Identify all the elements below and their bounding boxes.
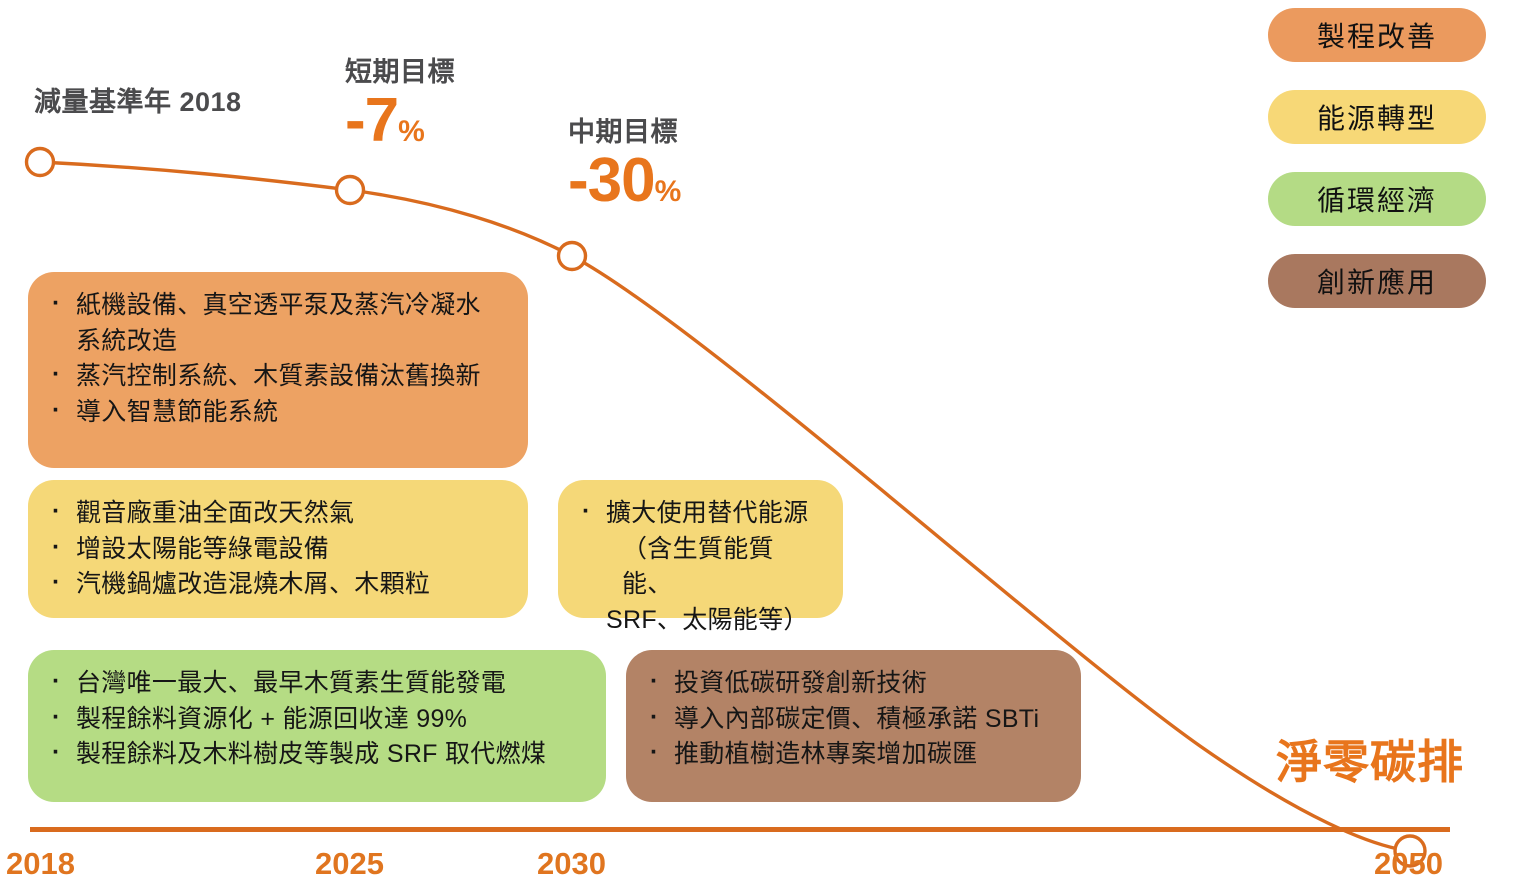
card-energy-transition-left: 觀音廠重油全面改天然氣 增設太陽能等綠電設備 汽機鍋爐改造混燒木屑、木顆粒 xyxy=(28,480,528,618)
card-process-improvement: 紙機設備、真空透平泵及蒸汽冷凝水 系統改造 蒸汽控制系統、木質素設備汰舊換新 導… xyxy=(28,272,528,468)
axis-tick-2030: 2030 xyxy=(537,846,606,882)
axis-tick-2025: 2025 xyxy=(315,846,384,882)
milestone-short-term: 短期目標 -7% xyxy=(345,58,455,152)
card-item-list: 觀音廠重油全面改天然氣 增設太陽能等綠電設備 汽機鍋爐改造混燒木屑、木顆粒 xyxy=(46,496,506,603)
timeline-axis xyxy=(30,827,1450,832)
baseline-title: 減量基準年 2018 xyxy=(34,88,242,118)
card-energy-transition-right: 擴大使用替代能源 （含生質能質能、 SRF、太陽能等） xyxy=(558,480,843,618)
list-item: 製程餘料及木料樹皮等製成 SRF 取代燃煤 xyxy=(46,737,584,773)
legend-badge-innovation-application[interactable]: 創新應用 xyxy=(1268,254,1486,308)
list-item: 製程餘料資源化 + 能源回收達 99% xyxy=(46,702,584,738)
list-item: 系統改造 xyxy=(46,324,506,360)
milestone-mid-term: 中期目標 -30% xyxy=(568,118,681,212)
list-item: 台灣唯一最大、最早木質素生質能發電 xyxy=(46,666,584,702)
card-item-list: 擴大使用替代能源 （含生質能質能、 SRF、太陽能等） xyxy=(576,496,821,638)
list-item: 投資低碳研發創新技術 xyxy=(644,666,1059,702)
mid-term-unit: % xyxy=(655,175,682,208)
card-item-list: 紙機設備、真空透平泵及蒸汽冷凝水 系統改造 蒸汽控制系統、木質素設備汰舊換新 導… xyxy=(46,288,506,430)
card-item-list: 台灣唯一最大、最早木質素生質能發電 製程餘料資源化 + 能源回收達 99% 製程… xyxy=(46,666,584,773)
node-2018 xyxy=(27,149,54,176)
list-item: 導入內部碳定價、積極承諾 SBTi xyxy=(644,702,1059,738)
short-term-title: 短期目標 xyxy=(345,58,455,88)
card-item-list: 投資低碳研發創新技術 導入內部碳定價、積極承諾 SBTi 推動植樹造林專案增加碳… xyxy=(644,666,1059,773)
legend-badge-group: 製程改善 能源轉型 循環經濟 創新應用 xyxy=(1268,8,1486,308)
card-innovation-application: 投資低碳研發創新技術 導入內部碳定價、積極承諾 SBTi 推動植樹造林專案增加碳… xyxy=(626,650,1081,802)
legend-badge-circular-economy[interactable]: 循環經濟 xyxy=(1268,172,1486,226)
axis-tick-2018: 2018 xyxy=(6,846,75,882)
infographic-canvas: 減量基準年 2018 短期目標 -7% 中期目標 -30% 淨零碳排 製程改善 … xyxy=(0,0,1540,896)
short-term-value-group: -7% xyxy=(345,90,455,152)
mid-term-title: 中期目標 xyxy=(568,118,681,148)
axis-tick-2050: 2050 xyxy=(1374,846,1443,882)
node-2025 xyxy=(337,177,364,204)
milestone-baseline: 減量基準年 2018 xyxy=(34,88,242,118)
legend-badge-energy-transition[interactable]: 能源轉型 xyxy=(1268,90,1486,144)
legend-badge-label: 能源轉型 xyxy=(1317,97,1437,137)
list-item: 推動植樹造林專案增加碳匯 xyxy=(644,737,1059,773)
legend-badge-label: 製程改善 xyxy=(1317,15,1437,55)
list-item: （含生質能質能、 xyxy=(576,532,821,603)
node-2030 xyxy=(559,243,586,270)
legend-badge-label: 循環經濟 xyxy=(1317,179,1437,219)
list-item: 增設太陽能等綠電設備 xyxy=(46,532,506,568)
short-term-unit: % xyxy=(398,115,425,148)
list-item: 蒸汽控制系統、木質素設備汰舊換新 xyxy=(46,359,506,395)
mid-term-value-group: -30% xyxy=(568,150,681,212)
list-item: SRF、太陽能等） xyxy=(576,603,821,639)
legend-badge-label: 創新應用 xyxy=(1317,261,1437,301)
mid-term-value: -30 xyxy=(568,146,655,215)
list-item: 汽機鍋爐改造混燒木屑、木顆粒 xyxy=(46,567,506,603)
short-term-value: -7 xyxy=(345,86,398,155)
list-item: 擴大使用替代能源 xyxy=(576,496,821,532)
net-zero-label: 淨零碳排 xyxy=(1276,726,1464,792)
list-item: 紙機設備、真空透平泵及蒸汽冷凝水 xyxy=(46,288,506,324)
legend-badge-process-improvement[interactable]: 製程改善 xyxy=(1268,8,1486,62)
list-item: 觀音廠重油全面改天然氣 xyxy=(46,496,506,532)
list-item: 導入智慧節能系統 xyxy=(46,395,506,431)
card-circular-economy: 台灣唯一最大、最早木質素生質能發電 製程餘料資源化 + 能源回收達 99% 製程… xyxy=(28,650,606,802)
